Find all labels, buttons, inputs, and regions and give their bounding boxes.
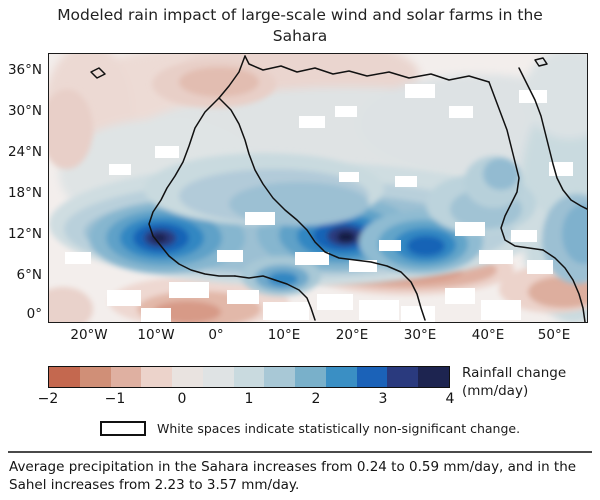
colorbar-band	[264, 367, 295, 387]
page-title: Modeled rain impact of large-scale wind …	[55, 5, 545, 47]
colorbar-tick: 1	[245, 391, 254, 407]
x-tick-label: 20°W	[70, 327, 107, 343]
figure-root: Modeled rain impact of large-scale wind …	[0, 0, 600, 500]
y-tick-label: 24°N	[0, 144, 42, 160]
colorbar-tick: 3	[379, 391, 388, 407]
non-significant-note: White spaces indicate statistically non-…	[157, 421, 520, 436]
x-tick-label: 0°	[208, 327, 223, 343]
colorbar-band	[111, 367, 142, 387]
colorbar-band	[295, 367, 326, 387]
colorbar-band	[387, 367, 418, 387]
colorbar-band	[203, 367, 234, 387]
colorbar-band	[49, 367, 80, 387]
colorbar-tick: −2	[38, 391, 59, 407]
colorbar-tick: 4	[446, 391, 455, 407]
colorbar	[48, 366, 450, 388]
y-tick-label: 0°	[0, 306, 42, 322]
colorbar-band	[326, 367, 357, 387]
colorbar-label-line2: (mm/day)	[462, 383, 566, 401]
x-tick-label: 10°E	[268, 327, 300, 343]
colorbar-label: Rainfall change (mm/day)	[462, 365, 566, 400]
rainfall-anomaly-map	[49, 54, 588, 323]
x-tick-label: 20°E	[336, 327, 368, 343]
y-tick-label: 36°N	[0, 62, 42, 78]
colorbar-band	[418, 367, 449, 387]
colorbar-tick: −1	[105, 391, 126, 407]
colorbar-band	[172, 367, 203, 387]
colorbar-band	[141, 367, 172, 387]
x-tick-label: 50°E	[538, 327, 570, 343]
figure-caption: Average precipitation in the Sahara incr…	[9, 458, 595, 494]
x-tick-label: 10°W	[137, 327, 174, 343]
colorbar-label-line1: Rainfall change	[462, 365, 566, 383]
y-tick-label: 12°N	[0, 226, 42, 242]
colorbar-tick: 0	[178, 391, 187, 407]
colorbar-tick: 2	[312, 391, 321, 407]
caption-divider	[8, 451, 592, 453]
y-tick-label: 18°N	[0, 185, 42, 201]
x-tick-label: 30°E	[404, 327, 436, 343]
colorbar-band	[357, 367, 388, 387]
y-tick-label: 6°N	[0, 267, 42, 283]
y-tick-label: 30°N	[0, 103, 42, 119]
colorbar-band	[234, 367, 265, 387]
map-plot	[48, 53, 588, 323]
non-significant-swatch	[100, 421, 146, 436]
colorbar-band	[80, 367, 111, 387]
x-tick-label: 40°E	[472, 327, 504, 343]
